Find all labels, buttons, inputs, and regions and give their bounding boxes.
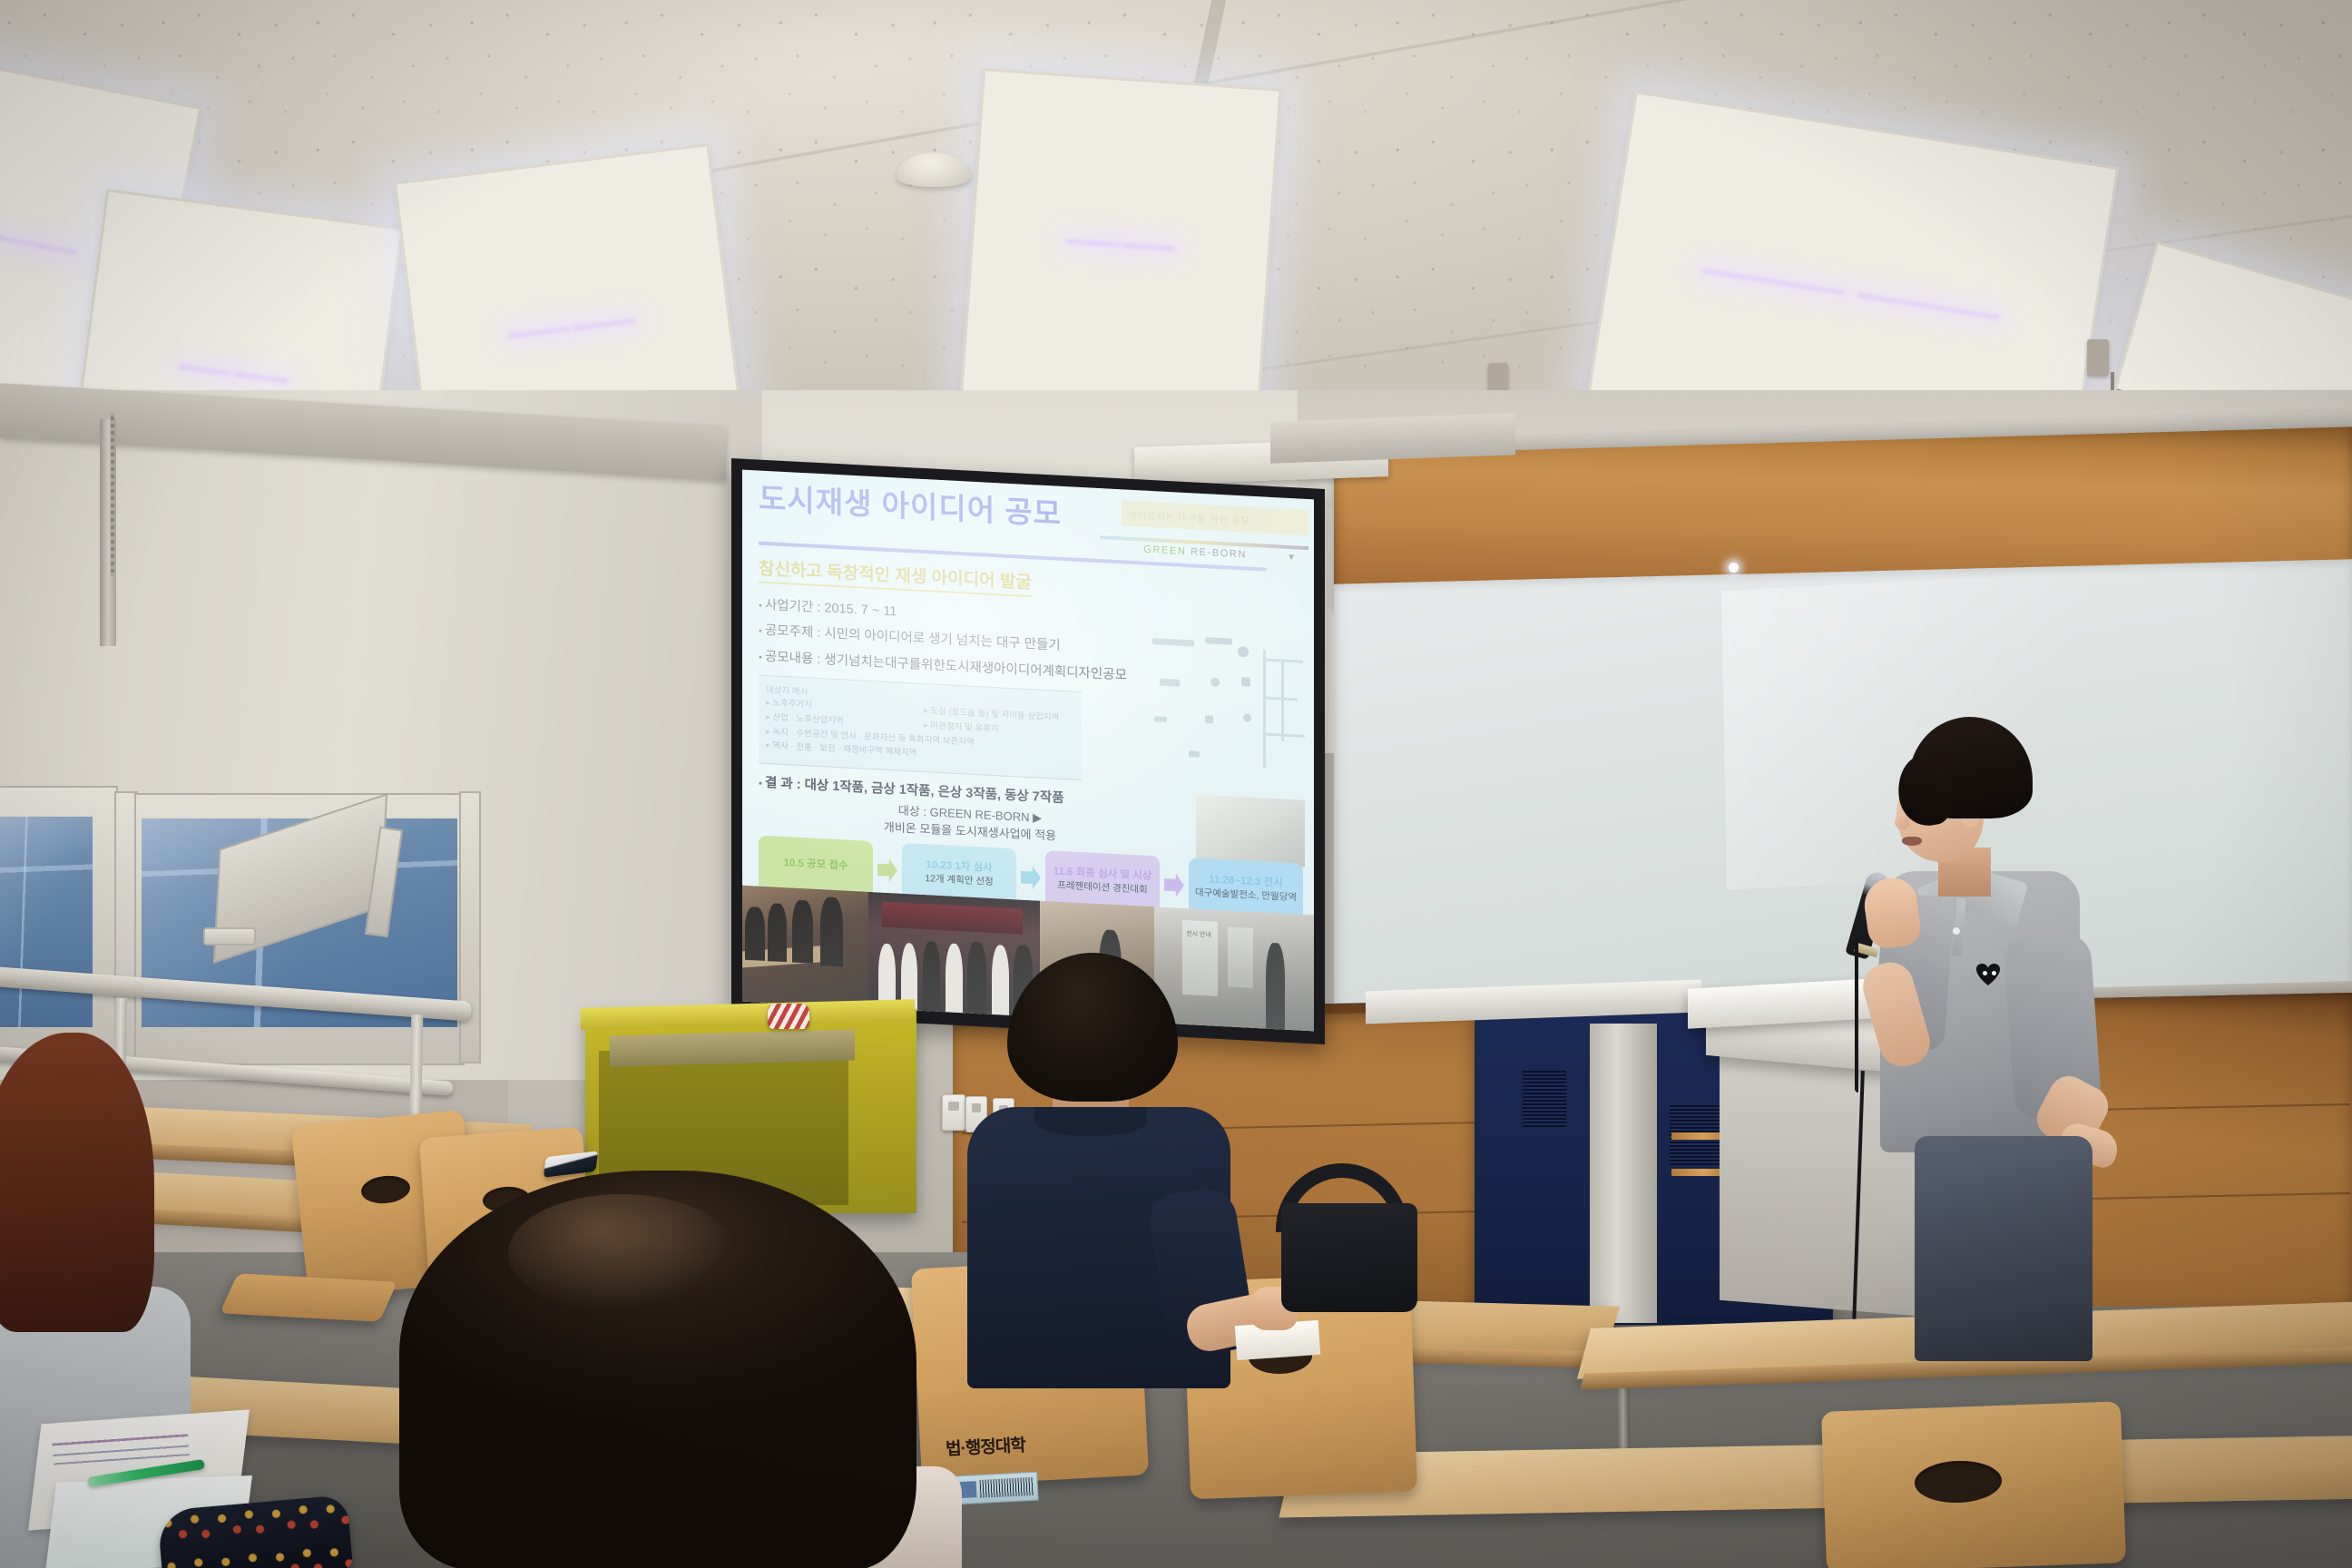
presentation-slide: 생기넘치는 대구를 위한 공모 도시재생 아이디어 공모 GREEN RE-BO… [742, 470, 1314, 1032]
fluorescent-tube-icon [39, 246, 75, 253]
fluorescent-tube-icon [1123, 246, 1173, 250]
brand-mark-icon: ▼ [1287, 553, 1296, 563]
slide-example-box: 대상지 예시 노후주거지 산업 · 노후산업지역 도심 (로드숍 등) 및 저이… [759, 675, 1082, 780]
window-mullion [459, 791, 481, 1063]
slide-brand: GREEN RE-BORN [1143, 544, 1247, 561]
presenter-shirt-button [1953, 927, 1960, 935]
seated-student-navy [944, 953, 1289, 1388]
presenter-jeans [1915, 1136, 2092, 1361]
window-glass [0, 817, 93, 1027]
fluorescent-tube-icon [510, 329, 568, 337]
student-head [1007, 953, 1178, 1102]
ceiling-light-fixture [960, 68, 1282, 423]
flow-arrow-icon [1164, 873, 1184, 897]
striped-object[interactable] [768, 1004, 809, 1029]
presenter-nose [1895, 815, 1909, 829]
slide-subheading: 참신하고 독창적인 재생 아이디어 발굴 [759, 555, 1032, 598]
flow-step-sub: 프레젠테이션 경진대회 [1057, 881, 1148, 897]
fluorescent-tube-icon [1860, 296, 1998, 318]
brand-green-text: GREEN [1143, 544, 1186, 557]
fluorescent-tube-icon [236, 375, 285, 381]
student-collar [1034, 1107, 1147, 1136]
tote-bag[interactable] [1281, 1203, 1417, 1312]
flow-arrow-icon [1021, 866, 1041, 890]
chair-asset-barcode [954, 1472, 1039, 1505]
student-head [0, 1033, 154, 1332]
brand-grey-text: RE-BORN [1191, 546, 1247, 560]
fluorescent-tube-icon [575, 321, 633, 328]
slide-decorative-photo [1196, 795, 1305, 867]
fluorescent-tube-icon [0, 238, 34, 245]
projection-screen-housing [1270, 413, 1515, 463]
flow-step-title: 10.5 공모 접수 [783, 857, 848, 872]
slide-photo [742, 886, 868, 1008]
av-cabinet-handle[interactable] [1590, 1024, 1657, 1323]
hair-highlight [508, 1194, 735, 1312]
av-cabinet-vent [1523, 1071, 1566, 1127]
screen-mount [2087, 339, 2109, 376]
presenter-mouth [1902, 837, 1922, 846]
corner-band-text: 생기넘치는 대구를 위한 공모 [1129, 507, 1250, 527]
projection-screen: 생기넘치는 대구를 위한 공모 도시재생 아이디어 공모 GREEN RE-BO… [742, 470, 1314, 1032]
fluorescent-tube-icon [181, 367, 230, 374]
flow-step-sub: 12개 계획안 선정 [925, 874, 993, 887]
fluorescent-tube-icon [1068, 241, 1118, 245]
classroom-photo: 생기넘치는 대구를 위한 공모 도시재생 아이디어 공모 GREEN RE-BO… [0, 0, 2352, 1568]
av-cart-shelf [610, 1029, 855, 1066]
seated-student-front [399, 1171, 962, 1568]
flow-arrow-icon [877, 857, 897, 882]
flow-step-title: 10.23 1차 심사 [926, 860, 992, 875]
microphone-cable [1855, 938, 1858, 1093]
poster-text: 전시 안내 [1186, 929, 1211, 939]
flow-step-sub: 대구예술발전소, 만월당역 [1195, 888, 1297, 904]
presenter [1831, 717, 2103, 1352]
whiteboard-highlight-dot [1729, 563, 1739, 573]
blind-chain[interactable] [111, 413, 114, 576]
chair-seat[interactable] [220, 1273, 397, 1321]
fluorescent-tube-icon [1705, 271, 1843, 293]
window-handle[interactable] [203, 927, 256, 946]
